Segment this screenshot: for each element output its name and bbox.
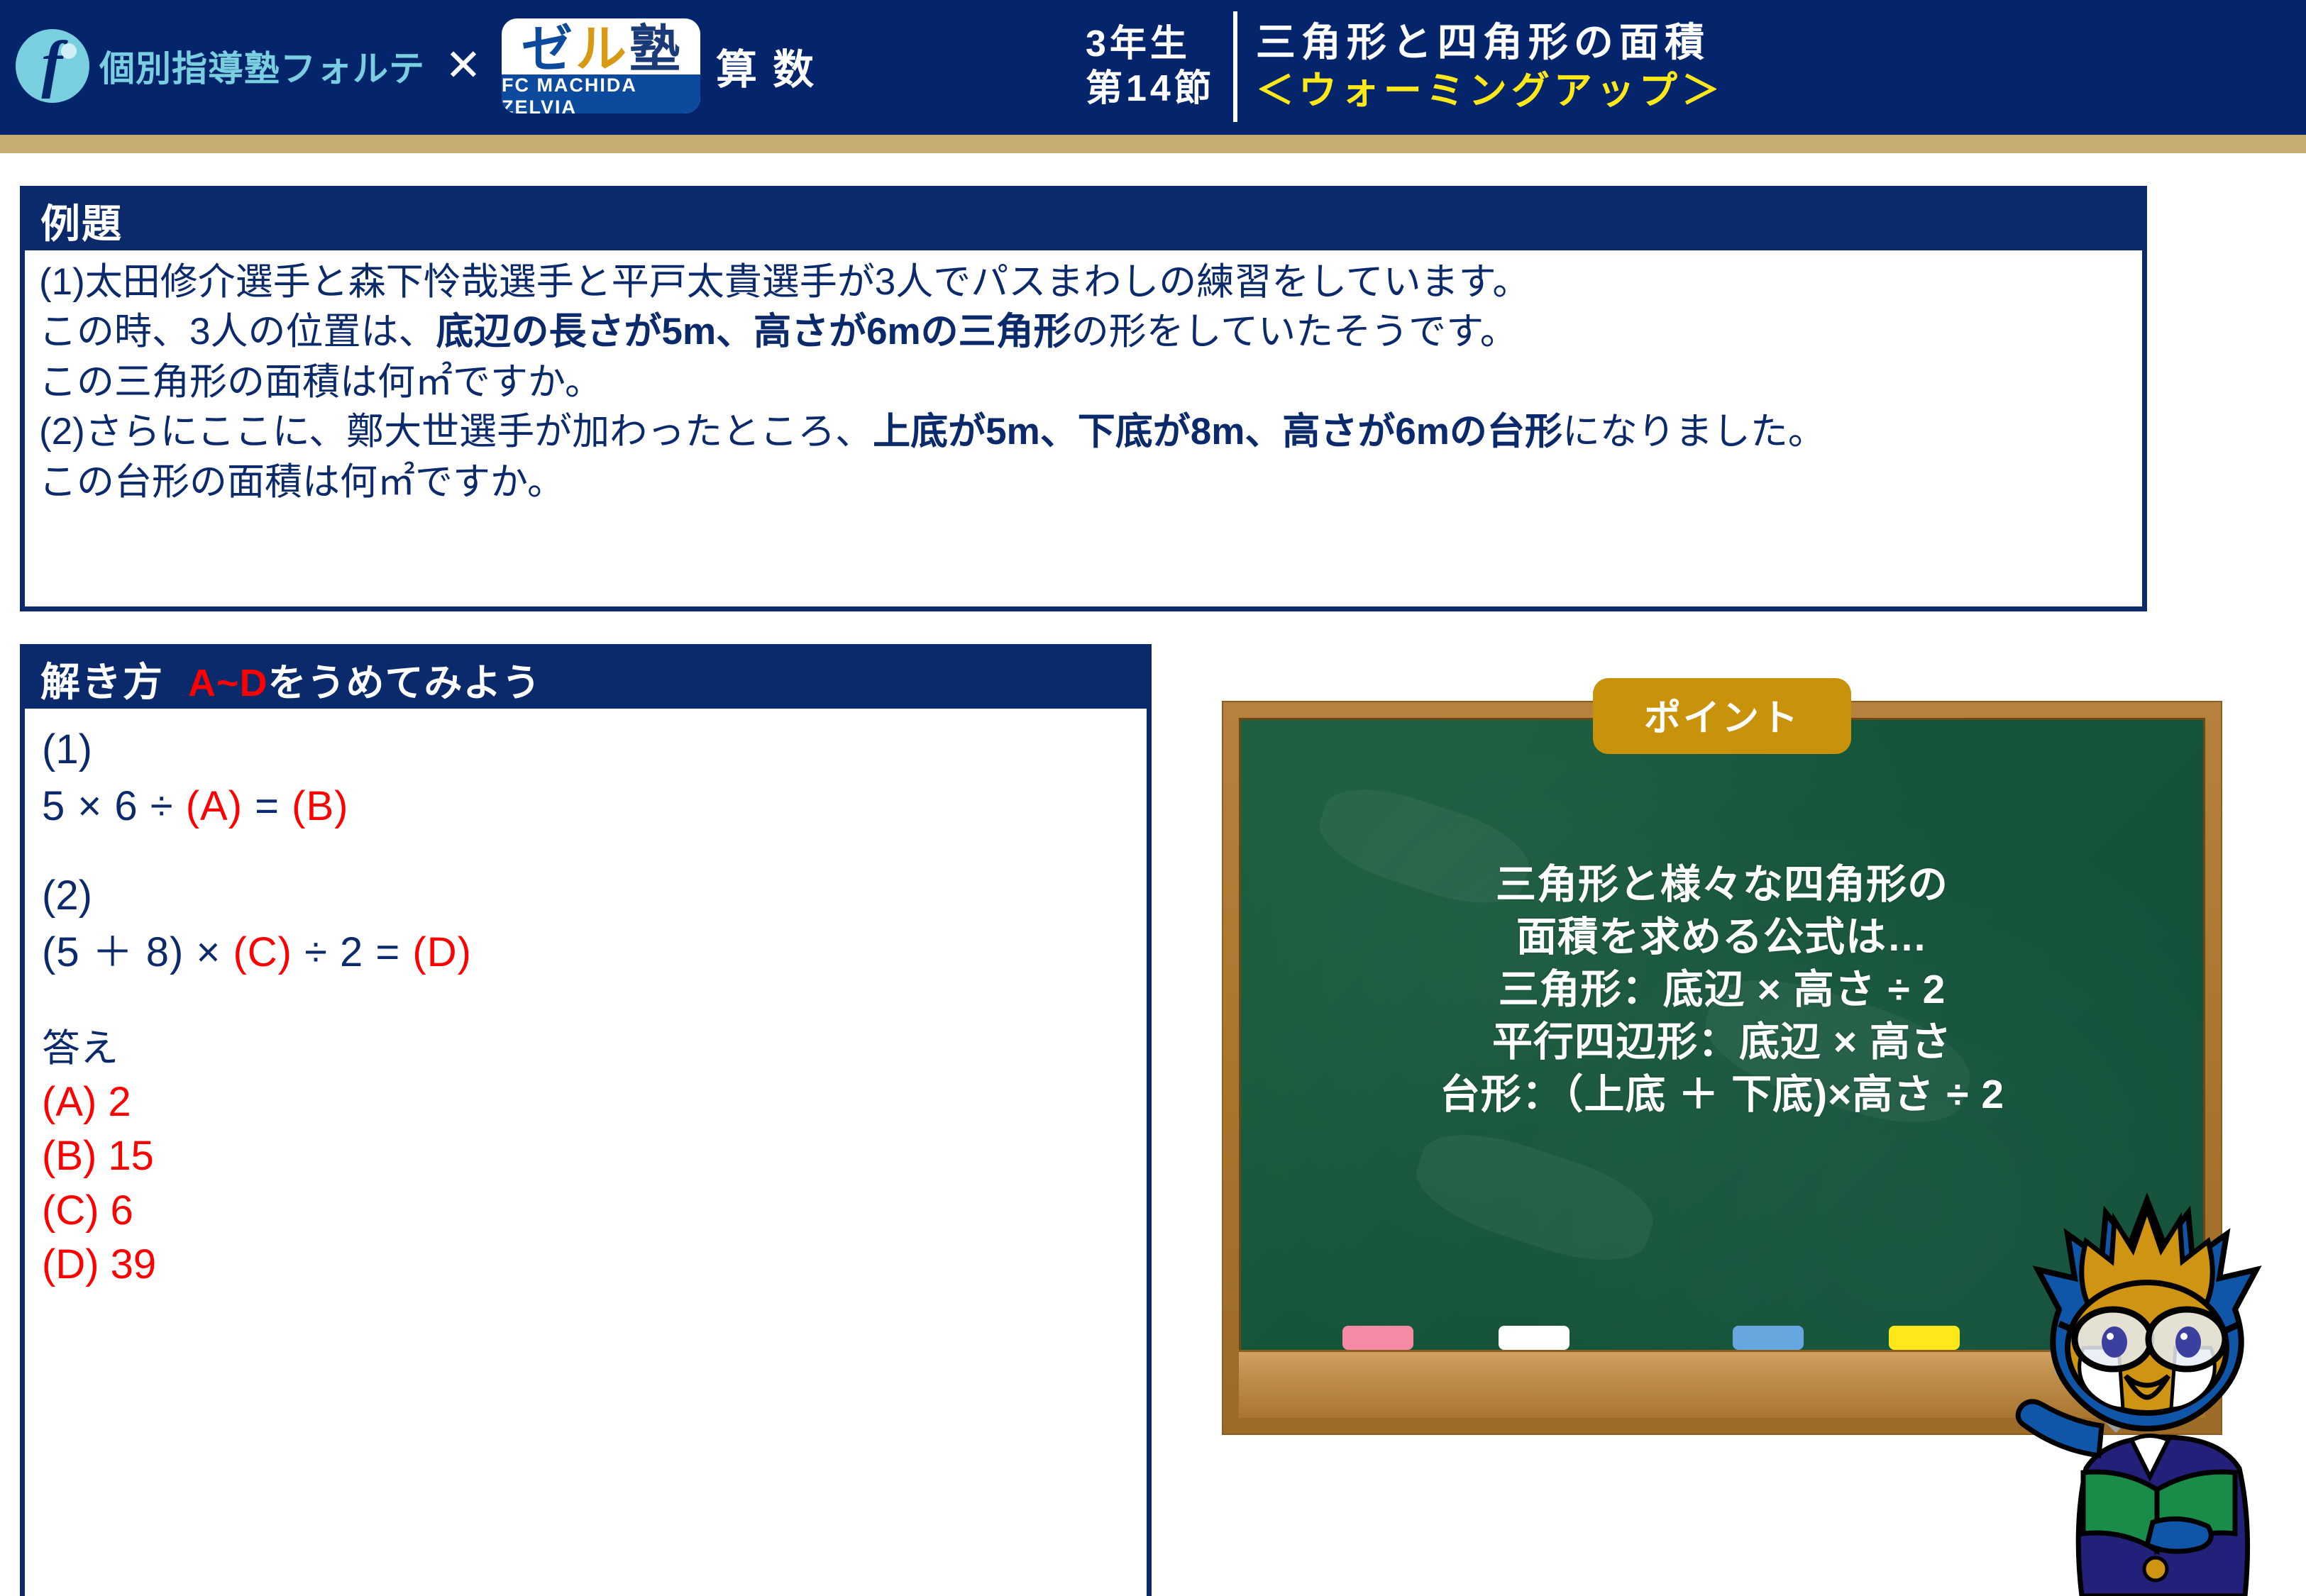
subject-label: 算 数: [716, 36, 816, 96]
example-line: この台形の面積は何㎡ですか。: [39, 458, 2132, 507]
example-box: 例題 (1)太田修介選手と森下怜哉選手と平戸太貴選手が3人でパスまわしの練習をし…: [20, 186, 2147, 611]
zelvia-char-1: ル: [575, 23, 627, 74]
blackboard-line: 面積を求める公式は…: [1241, 911, 2203, 963]
solution-heading-sub-red: A~D: [188, 662, 268, 704]
forte-logo: f 個別指導塾フォルテ: [16, 29, 425, 103]
example-plain: (2)さらにここに、鄭大世選手が加わったところ、: [39, 411, 873, 453]
answer-item: (C) 6: [42, 1184, 1147, 1238]
solution-content: (1) 5 × 6 ÷ (A) = (B) (2) (5 ＋ 8) × (C) …: [25, 709, 1147, 1292]
chalk-blue-icon: [1733, 1326, 1804, 1350]
title-divider: [1233, 11, 1237, 122]
example-line: この三角形の面積は何㎡ですか。: [39, 358, 2132, 407]
blackboard-line: 台形：（上底 ＋ 下底)×高さ ÷ 2: [1241, 1068, 2203, 1121]
forte-name-label: 個別指導塾フォルテ: [99, 40, 425, 92]
title-block: 3年生 第14節 三角形と四角形の面積 ＜ウォーミングアップ＞: [1086, 3, 1724, 131]
solution-box-header: 解き方 A~Dをうめてみよう: [25, 649, 1147, 709]
solution-heading-sub-white: をうめてみよう: [268, 662, 541, 704]
solution-box: 解き方 A~Dをうめてみよう (1) 5 × 6 ÷ (A) = (B) (2)…: [20, 644, 1152, 1596]
spacer-2: [42, 981, 1147, 1014]
chalk-white-icon: [1499, 1326, 1569, 1350]
grade-section-group: 3年生 第14節: [1086, 22, 1215, 112]
blackboard-formula-text: 三角形と様々な四角形の面積を求める公式は…三角形：底辺 × 高さ ÷ 2平行四辺…: [1241, 858, 2203, 1121]
point-badge: ポイント: [1593, 678, 1851, 754]
grade-label: 3年生: [1086, 22, 1215, 67]
title-text-group: 三角形と四角形の面積 ＜ウォーミングアップ＞: [1256, 18, 1724, 116]
equation-part: (5 ＋ 8) ×: [42, 929, 233, 975]
spacer-1: [42, 835, 1147, 868]
zelvia-char-0: ゼ: [522, 23, 573, 74]
zelvia-sub-label: FC MACHIDA ZELVIA: [502, 74, 700, 113]
equation-blank: (A): [186, 783, 243, 829]
equation-part: ÷ 2 =: [292, 929, 412, 975]
solution-heading: 解き方: [40, 650, 164, 708]
forte-f-glyph: f: [41, 33, 62, 96]
q2-equation: (5 ＋ 8) × (C) ÷ 2 = (D): [42, 924, 1147, 981]
chalk-pink-icon: [1342, 1326, 1413, 1350]
lesson-title: 三角形と四角形の面積: [1256, 18, 1724, 67]
q2-label: (2): [42, 868, 1147, 924]
header-gold-strip: [0, 135, 2306, 153]
chalk-smudge-icon: [1406, 1116, 1664, 1279]
slide-root: f 個別指導塾フォルテ ✕ ゼ ル 塾 FC MACHIDA ZELVIA 算 …: [0, 0, 2306, 1596]
answer-label: 答え: [42, 1022, 1147, 1075]
lesson-subtitle: ＜ウォーミングアップ＞: [1256, 67, 1724, 116]
example-line: (1)太田修介選手と森下怜哉選手と平戸太貴選手が3人でパスまわしの練習をしていま…: [39, 257, 2132, 307]
answer-item: (A) 2: [42, 1075, 1147, 1130]
forte-f-icon: f: [16, 29, 89, 103]
slide-header: f 個別指導塾フォルテ ✕ ゼ ル 塾 FC MACHIDA ZELVIA 算 …: [0, 0, 2306, 135]
example-heading: 例題: [40, 192, 123, 250]
chalk-yellow-icon: [1889, 1326, 1960, 1350]
answer-item: (D) 39: [42, 1238, 1147, 1292]
brand-row: f 個別指導塾フォルテ ✕ ゼ ル 塾 FC MACHIDA ZELVIA 算 …: [16, 6, 816, 126]
blackboard-line: 平行四辺形：底辺 × 高さ: [1241, 1016, 2203, 1068]
example-emphasis: 上底が5m、下底が8m、高さが6mの台形: [873, 411, 1562, 453]
example-plain: になりました。: [1562, 411, 1826, 453]
answer-item: (B) 15: [42, 1129, 1147, 1184]
equation-blank: (D): [412, 929, 472, 975]
solution-heading-sub: A~Dをうめてみよう: [188, 651, 541, 707]
example-plain: この時、3人の位置は、: [39, 311, 436, 353]
mascot-illustration-icon: [1980, 1135, 2306, 1596]
blackboard-line: 三角形：底辺 × 高さ ÷ 2: [1241, 963, 2203, 1016]
example-box-header: 例題: [25, 191, 2142, 250]
equation-part: 5 × 6 ÷: [42, 783, 186, 829]
zelvia-logo: ゼ ル 塾 FC MACHIDA ZELVIA: [502, 18, 700, 113]
example-plain: の形をしていたそうです。: [1071, 311, 1518, 353]
example-emphasis: 底辺の長さが5m、高さが6mの三角形: [436, 311, 1071, 353]
section-label: 第14節: [1086, 67, 1215, 111]
answer-list: (A) 2(B) 15(C) 6(D) 39: [42, 1075, 1147, 1292]
cross-icon: ✕: [441, 44, 486, 88]
zelvia-char-2: 塾: [629, 23, 680, 74]
zelvia-logo-chars: ゼ ル 塾: [512, 23, 690, 74]
q1-equation: 5 × 6 ÷ (A) = (B): [42, 778, 1147, 835]
q1-label: (1): [42, 721, 1147, 778]
example-text: (1)太田修介選手と森下怜哉選手と平戸太貴選手が3人でパスまわしの練習をしていま…: [25, 250, 2142, 507]
example-plain: この三角形の面積は何㎡ですか。: [39, 361, 602, 403]
zelvia-hawk-mascot: [1980, 1135, 2306, 1596]
equation-blank: (C): [233, 929, 292, 975]
blackboard-line: 三角形と様々な四角形の: [1241, 858, 2203, 911]
equation-blank: (B): [292, 783, 348, 829]
example-line: (2)さらにここに、鄭大世選手が加わったところ、上底が5m、下底が8m、高さが6…: [39, 407, 2132, 457]
equation-part: =: [243, 783, 292, 829]
example-plain: (1)太田修介選手と森下怜哉選手と平戸太貴選手が3人でパスまわしの練習をしていま…: [39, 261, 1530, 303]
example-line: この時、3人の位置は、底辺の長さが5m、高さが6mの三角形の形をしていたそうです…: [39, 307, 2132, 357]
forte-dot-icon: [61, 43, 77, 59]
example-plain: この台形の面積は何㎡ですか。: [39, 461, 565, 503]
